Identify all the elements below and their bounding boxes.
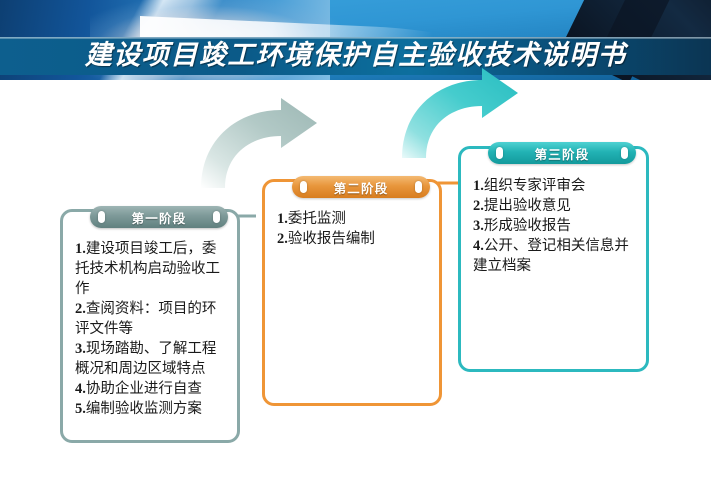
list-item-number: 2. xyxy=(75,301,86,317)
list-item-number: 4. xyxy=(473,238,484,254)
list-item-number: 1. xyxy=(277,211,288,227)
list-item-number: 3. xyxy=(75,341,86,357)
list-item: 1.委托监测 xyxy=(277,209,431,229)
capsule-right-pill-icon xyxy=(213,211,220,223)
list-item-number: 1. xyxy=(473,178,484,194)
phase-3-label: 第三阶段 xyxy=(535,144,590,163)
phase-1-body: 1.建设项目竣工后，委托技术机构启动验收工作 2.查阅资料：项目的环评文件等 3… xyxy=(75,239,229,419)
list-item-number: 5. xyxy=(75,401,86,417)
list-item: 3.现场踏勘、了解工程概况和周边区域特点 xyxy=(75,339,229,379)
capsule-right-pill-icon xyxy=(415,181,422,193)
capsule-left-pill-icon xyxy=(496,147,503,159)
list-item-number: 2. xyxy=(473,198,484,214)
list-item-number: 1. xyxy=(75,241,86,257)
list-item-number: 2. xyxy=(277,231,288,247)
list-item: 3.形成验收报告 xyxy=(473,216,638,236)
list-item: 1.建设项目竣工后，委托技术机构启动验收工作 xyxy=(75,239,229,299)
list-item: 4.协助企业进行自查 xyxy=(75,379,229,399)
phase-3-body: 1.组织专家评审会 2.提出验收意见 3.形成验收报告 4.公开、登记相关信息并… xyxy=(473,176,638,276)
list-item-number: 3. xyxy=(473,218,484,234)
list-item: 2.验收报告编制 xyxy=(277,229,431,249)
list-item-number: 4. xyxy=(75,381,86,397)
phase-3-capsule-header[interactable]: 第三阶段 xyxy=(488,142,636,164)
phase-1-capsule-header[interactable]: 第一阶段 xyxy=(90,206,228,228)
page-title: 建设项目竣工环境保护自主验收技术说明书 xyxy=(0,37,711,75)
list-item: 2.查阅资料：项目的环评文件等 xyxy=(75,299,229,339)
list-item: 2.提出验收意见 xyxy=(473,196,638,216)
capsule-left-pill-icon xyxy=(98,211,105,223)
capsule-left-pill-icon xyxy=(300,181,307,193)
phase-box-3[interactable]: 1.组织专家评审会 2.提出验收意见 3.形成验收报告 4.公开、登记相关信息并… xyxy=(458,146,649,372)
phase-box-2[interactable]: 1.委托监测 2.验收报告编制 xyxy=(262,179,442,406)
phase-2-body: 1.委托监测 2.验收报告编制 xyxy=(277,209,431,249)
slide-canvas: 建设项目竣工环境保护自主验收技术说明书 xyxy=(0,0,711,480)
list-item: 4.公开、登记相关信息并建立档案 xyxy=(473,236,638,276)
list-item: 5.编制验收监测方案 xyxy=(75,399,229,419)
phase-2-label: 第二阶段 xyxy=(334,178,389,197)
capsule-right-pill-icon xyxy=(621,147,628,159)
list-item: 1.组织专家评审会 xyxy=(473,176,638,196)
phase-box-1[interactable]: 1.建设项目竣工后，委托技术机构启动验收工作 2.查阅资料：项目的环评文件等 3… xyxy=(60,209,240,443)
phase-2-capsule-header[interactable]: 第二阶段 xyxy=(292,176,430,198)
phase-1-label: 第一阶段 xyxy=(132,208,187,227)
